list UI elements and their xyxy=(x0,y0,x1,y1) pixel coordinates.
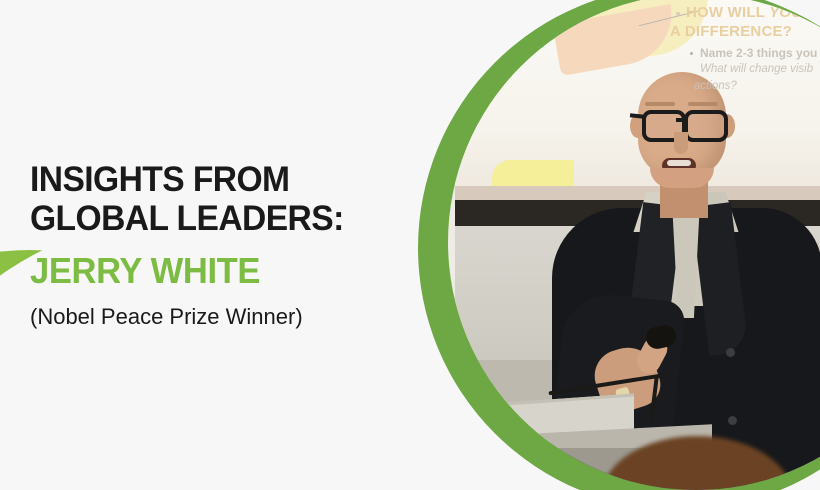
headline-line-1: INSIGHTS FROM xyxy=(30,160,344,199)
blazer-button-lower xyxy=(728,416,737,425)
speaker-nose xyxy=(674,132,688,154)
screen-bottom-edge xyxy=(455,186,820,200)
speaker-name: JERRY WHITE xyxy=(30,250,344,292)
speaker-credential: (Nobel Peace Prize Winner) xyxy=(30,303,357,331)
speaker-promo-banner: HOW WILL YOU MA A DIFFERENCE? Name 2-3 t… xyxy=(0,0,820,490)
speaker-eyebrow-right xyxy=(688,102,718,106)
headline-block: INSIGHTS FROM GLOBAL LEADERS: JERRY WHIT… xyxy=(30,160,357,331)
speaker-eyebrow-left xyxy=(645,102,675,106)
headline-line-2: GLOBAL LEADERS: xyxy=(30,199,344,238)
blazer-button-upper xyxy=(726,348,735,357)
speaker-photo: HOW WILL YOU MA A DIFFERENCE? Name 2-3 t… xyxy=(448,0,820,490)
speaker-teeth xyxy=(667,160,691,166)
eyeglasses-lens-right xyxy=(684,110,728,142)
eyeglasses-bridge xyxy=(676,118,688,122)
speaker-chin xyxy=(650,168,714,188)
